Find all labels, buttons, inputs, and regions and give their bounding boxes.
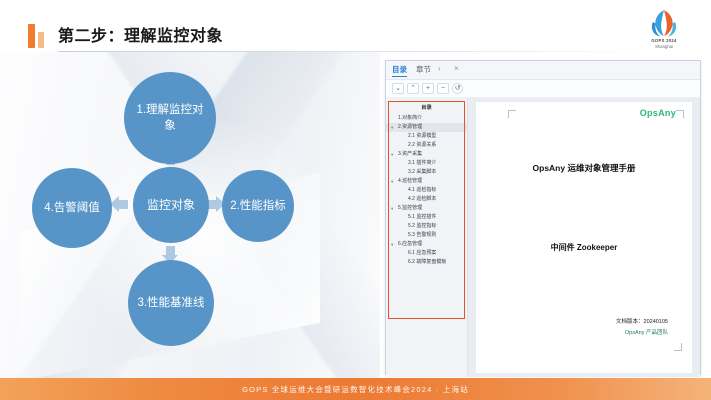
toc-item[interactable]: ▾4.巡检管理 [386, 177, 467, 186]
diagram-node-label: 2.性能指标 [230, 198, 286, 214]
toc-item[interactable]: ▾3.资产采集 [386, 150, 467, 159]
toc-item-label: 5.1 监控插件 [408, 214, 436, 220]
toc-item[interactable]: 3.1 插件简介 [386, 159, 467, 168]
toc-item-label: 3.1 插件简介 [408, 160, 436, 166]
toc-item[interactable]: 5.2 监控指标 [386, 222, 467, 231]
diagram-node-alert-threshold: 4.告警阈值 [32, 168, 112, 248]
zoom-out-icon[interactable]: − [437, 83, 449, 94]
toc-item-label: 4.巡检管理 [398, 178, 422, 184]
tab-chapters[interactable]: 章节 [416, 64, 431, 75]
reset-icon[interactable]: ↺ [452, 83, 463, 94]
toc-item-label: 3.资产采集 [398, 151, 422, 157]
toc-item[interactable]: 5.1 监控插件 [386, 213, 467, 222]
toc-item[interactable]: 2.2 资源关系 [386, 141, 467, 150]
viewer-body: 目录 1.对象简介 ▾2.资源管理 2.1 资源模型 2.2 资源关系 ▾3.资… [386, 98, 700, 377]
monitoring-object-diagram: 1.理解监控对象 2.性能指标 3.性能基准线 4.告警阈值 监控对象 [0, 60, 380, 380]
chevron-down-icon[interactable]: ⌄ [392, 83, 404, 94]
chevron-right-icon[interactable]: › [438, 64, 441, 73]
tab-toc[interactable]: 目录 [392, 64, 407, 77]
toc-item[interactable]: ▾6.应急管理 [386, 240, 467, 249]
document-preview-pane[interactable]: OpsAny OpsAny 运维对象管理手册 中间件 Zookeeper 文档版… [468, 98, 700, 377]
toc-item-label: 2.资源管理 [398, 124, 422, 130]
toc-item[interactable]: 6.1 应急预案 [386, 249, 467, 258]
diagram-node-label: 3.性能基准线 [137, 295, 204, 311]
toc-item[interactable]: 5.3 告警规则 [386, 231, 467, 240]
footer-text: GOPS 全球运维大会暨研运数智化技术峰会2024 · 上海站 [242, 384, 469, 395]
zoom-in-icon[interactable]: + [422, 83, 434, 94]
toc-item-label: 4.2 巡检脚本 [408, 196, 436, 202]
toc-item[interactable]: ▾2.资源管理 [386, 123, 467, 132]
toc-item[interactable]: 1.对象简介 [386, 114, 467, 123]
toc-item-label: 4.1 巡检指标 [408, 187, 436, 193]
caret-icon: ▾ [391, 123, 393, 132]
gops-logo: GOPS 2024 Shanghai [635, 8, 693, 54]
toc-item-label: 3.2 采集脚本 [408, 169, 436, 175]
toc-item-label: 6.1 应急预案 [408, 250, 436, 256]
page-title: 第二步：理解监控对象 [58, 22, 223, 46]
diagram-node-understand-object: 1.理解监控对象 [124, 72, 216, 164]
diagram-node-performance-baseline: 3.性能基准线 [128, 260, 214, 346]
document-title: OpsAny 运维对象管理手册 [476, 162, 692, 174]
document-viewer-window: 目录 章节 › × ⌄ ⌃ + − ↺ 目录 1.对象简介 ▾2.资源管理 2.… [385, 60, 701, 375]
toc-item-label: 5.3 告警规则 [408, 232, 436, 238]
toc-item-label: 2.1 资源模型 [408, 133, 436, 139]
document-footer: 文档版本：20240105 OpsAny 产品团队 [616, 317, 668, 339]
gops-swirl-icon [647, 8, 681, 38]
toc-heading: 目录 [386, 104, 467, 111]
diagram-node-label: 1.理解监控对象 [132, 102, 208, 134]
caret-icon: ▾ [391, 150, 393, 159]
toc-panel[interactable]: 目录 1.对象简介 ▾2.资源管理 2.1 资源模型 2.2 资源关系 ▾3.资… [386, 98, 468, 377]
document-subtitle: 中间件 Zookeeper [476, 242, 692, 253]
conference-footer-banner: GOPS 全球运维大会暨研运数智化技术峰会2024 · 上海站 [0, 378, 711, 400]
toc-item-label: 5.2 监控指标 [408, 223, 436, 229]
toc-item[interactable]: 6.2 故障复盘模板 [386, 258, 467, 267]
toc-item[interactable]: 4.2 巡检脚本 [386, 195, 467, 204]
caret-icon: ▾ [391, 177, 393, 186]
document-version: 文档版本：20240105 [616, 317, 668, 328]
toc-item[interactable]: 4.1 巡检指标 [386, 186, 467, 195]
toc-list: 目录 1.对象简介 ▾2.资源管理 2.1 资源模型 2.2 资源关系 ▾3.资… [386, 98, 467, 267]
diagram-node-label: 4.告警阈值 [44, 200, 100, 216]
toc-item-label: 5.监控管理 [398, 205, 422, 211]
title-divider [58, 51, 648, 52]
caret-icon: ▾ [391, 204, 393, 213]
chevron-up-icon[interactable]: ⌃ [407, 83, 419, 94]
caret-icon: ▾ [391, 240, 393, 249]
toc-item-label: 1.对象简介 [398, 115, 422, 121]
toc-item-label: 2.2 资源关系 [408, 142, 436, 148]
toc-item[interactable]: ▾5.监控管理 [386, 204, 467, 213]
toc-item[interactable]: 3.2 采集脚本 [386, 168, 467, 177]
diagram-node-performance-metrics: 2.性能指标 [222, 170, 294, 242]
title-accent-bars [28, 24, 50, 48]
crop-mark-icon [508, 110, 516, 118]
document-page: OpsAny OpsAny 运维对象管理手册 中间件 Zookeeper 文档版… [476, 102, 692, 373]
crop-mark-icon [676, 110, 684, 118]
document-team: OpsAny 产品团队 [616, 328, 668, 339]
close-icon[interactable]: × [454, 64, 459, 73]
toc-item[interactable]: 2.1 资源模型 [386, 132, 467, 141]
opsany-logo: OpsAny [640, 108, 676, 118]
diagram-node-center: 监控对象 [133, 167, 209, 243]
viewer-button-row: ⌄ ⌃ + − ↺ [386, 80, 700, 98]
viewer-toolbar: 目录 章节 › × [386, 61, 700, 80]
toc-item-label: 6.2 故障复盘模板 [408, 259, 446, 265]
diagram-center-label: 监控对象 [147, 197, 195, 213]
slide-header: 第二步：理解监控对象 [0, 22, 711, 54]
toc-item-label: 6.应急管理 [398, 241, 422, 247]
gops-logo-line2: Shanghai [635, 44, 693, 50]
crop-mark-icon [674, 343, 682, 351]
